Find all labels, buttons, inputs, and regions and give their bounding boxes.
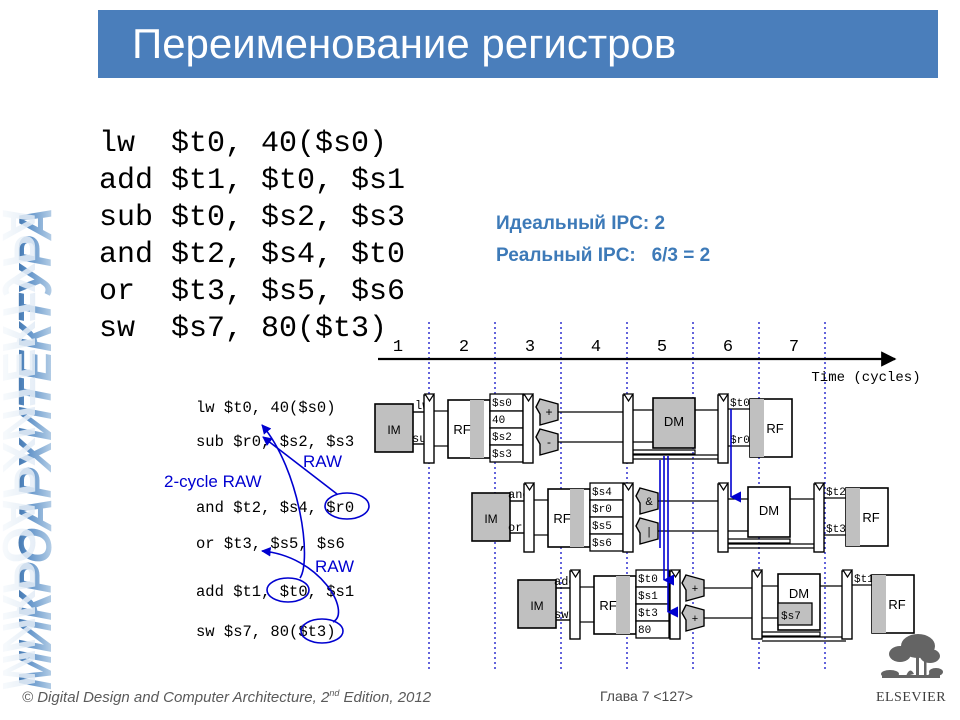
row3-im-label: IM bbox=[530, 599, 543, 613]
row3-operand-1: $t0 bbox=[638, 574, 658, 586]
footer-copyright: © Digital Design and Computer Architectu… bbox=[22, 688, 431, 706]
row3-dm-value: $s7 bbox=[781, 611, 801, 623]
row2-instr-2: or bbox=[508, 521, 522, 535]
annot-code-line-1: lw $t0, 40($s0) bbox=[196, 399, 336, 417]
slide: МИКРОАРХИТЕКТУРА МИКРОАРХИТЕКТУРА Переим… bbox=[0, 0, 960, 720]
row2-operand-2: $r0 bbox=[592, 504, 612, 516]
row1-alu-op-2: - bbox=[547, 435, 551, 449]
elsevier-tree-icon bbox=[872, 630, 950, 690]
row1-operand-1: $s0 bbox=[492, 398, 512, 410]
row2-operand-3: $s5 bbox=[592, 521, 612, 533]
row1-dm-label: DM bbox=[664, 414, 684, 429]
row1-rf-out-label: RF bbox=[766, 421, 783, 436]
cycle-tick-5: 5 bbox=[657, 338, 667, 357]
row3-instr-2: sw bbox=[554, 608, 569, 622]
row2-rf-out-label: RF bbox=[862, 510, 879, 525]
raw-label-1: RAW bbox=[303, 452, 342, 471]
footer-copyright-post: Edition, 2012 bbox=[339, 689, 431, 706]
row2-wb-1: $t2 bbox=[826, 487, 846, 499]
row3-wb-1: $t1 bbox=[854, 574, 874, 586]
row3-operand-4: 80 bbox=[638, 625, 651, 637]
cycle-tick-3: 3 bbox=[525, 338, 535, 357]
annot-code-line-6: sw $s7, 80($t3) bbox=[196, 623, 336, 641]
cycle-tick-7: 7 bbox=[789, 338, 799, 357]
timeline-axis: 1 2 3 4 5 6 7 Time (cycles) bbox=[378, 338, 921, 386]
row3-rf-label: RF bbox=[599, 598, 616, 613]
pipeline-row-3: IM add sw RF $t0 $s1 $t3 80 bbox=[518, 570, 914, 641]
row2-dm-label: DM bbox=[759, 503, 779, 518]
row1-wb-2: $r0 bbox=[730, 435, 750, 447]
cycle-tick-4: 4 bbox=[591, 338, 601, 357]
row3-alu-op-2: + bbox=[692, 613, 698, 625]
row3-rf-out-label: RF bbox=[888, 597, 905, 612]
annot-code-line-4: or $t3, $s5, $s6 bbox=[196, 535, 345, 553]
elsevier-wordmark: ELSEVIER bbox=[872, 690, 950, 706]
footer-page-number: Глава 7 <127> bbox=[600, 688, 693, 704]
footer-copyright-pre: © Digital Design and Computer Architectu… bbox=[22, 689, 329, 706]
annotated-code-block: lw $t0, 40($s0) sub $r0, $s2, $s3 and $t… bbox=[196, 399, 354, 641]
raw-label-2cycle: 2-cycle RAW bbox=[164, 472, 262, 491]
cycle-tick-6: 6 bbox=[723, 338, 733, 357]
row1-im-label: IM bbox=[387, 423, 400, 437]
raw-label-2: RAW bbox=[315, 557, 354, 576]
elsevier-logo: ELSEVIER bbox=[872, 630, 950, 708]
row1-operand-3: $s2 bbox=[492, 432, 512, 444]
row2-rf-label: RF bbox=[553, 511, 570, 526]
row2-alu-op-1: & bbox=[645, 496, 653, 508]
row3-alu-op-1: + bbox=[692, 583, 698, 595]
footer-copyright-sup: nd bbox=[329, 688, 339, 698]
row1-alu-op-1: + bbox=[545, 405, 552, 419]
row1-wb-1: $t0 bbox=[730, 398, 750, 410]
annot-code-line-5: add $t1, $t0, $s1 bbox=[196, 583, 354, 601]
row2-operand-1: $s4 bbox=[592, 487, 612, 499]
row3-operand-3: $t3 bbox=[638, 608, 658, 620]
row1-operand-4: $s3 bbox=[492, 449, 512, 461]
row1-rf-label: RF bbox=[453, 422, 470, 437]
pipeline-row-1: IM lw sub RF $s0 40 $s2 bbox=[375, 394, 792, 463]
row2-wb-2: $t3 bbox=[826, 524, 846, 536]
timeline-axis-label: Time (cycles) bbox=[811, 370, 920, 386]
row2-operand-4: $s6 bbox=[592, 538, 612, 550]
cycle-tick-1: 1 bbox=[393, 338, 403, 357]
row3-operand-2: $s1 bbox=[638, 591, 658, 603]
row2-alu-op-2: | bbox=[648, 526, 651, 538]
row1-operand-2: 40 bbox=[492, 415, 505, 427]
row3-dm-label: DM bbox=[789, 586, 809, 601]
row2-im-label: IM bbox=[484, 512, 497, 526]
annot-code-line-2: sub $r0, $s2, $s3 bbox=[196, 433, 354, 451]
pipeline-figure: 1 2 3 4 5 6 7 Time (cycles) lw $t0, 40($… bbox=[0, 0, 960, 720]
cycle-tick-2: 2 bbox=[459, 338, 469, 357]
